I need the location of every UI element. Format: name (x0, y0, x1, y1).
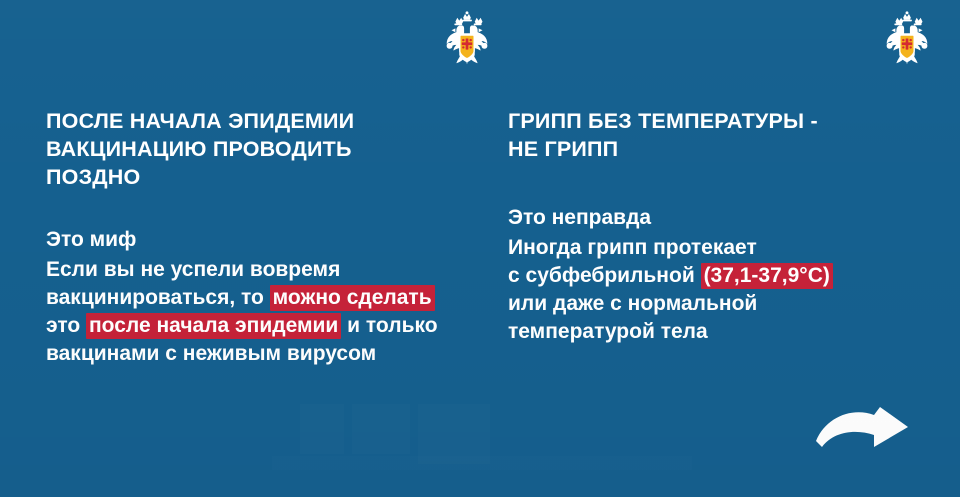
body-line: вакцинами с неживым вирусом (46, 340, 466, 368)
myth-column-left: ПОСЛЕ НАЧАЛА ЭПИДЕМИИ ВАКЦИНАЦИЮ ПРОВОДИ… (46, 108, 466, 368)
highlighted-phrase: можно сделать (270, 285, 435, 311)
column-body: Если вы не успели вовремя вакцинироватьс… (46, 256, 466, 369)
body-segment: это (46, 314, 86, 337)
highlighted-phrase: после начала эпидемии (86, 313, 341, 339)
body-segment: или даже с нормальной (508, 292, 757, 315)
body-segment: Иногда грипп протекает (508, 236, 757, 259)
body-line: температурой тела (508, 318, 928, 346)
column-heading: ПОСЛЕ НАЧАЛА ЭПИДЕМИИ ВАКЦИНАЦИЮ ПРОВОДИ… (46, 108, 466, 192)
body-line: вакцинироваться, то можно сделать (46, 284, 466, 312)
body-line: с субфебрильной (37,1-37,9°C) (508, 262, 928, 290)
column-verdict: Это миф (46, 226, 466, 254)
body-segment: Если вы не успели вовремя (46, 258, 340, 281)
column-heading: ГРИПП БЕЗ ТЕМПЕРАТУРЫ - НЕ ГРИПП (508, 108, 928, 164)
column-verdict: Это неправда (508, 204, 928, 232)
body-line: это после начала эпидемии и только (46, 312, 466, 340)
body-segment: и только (341, 314, 437, 337)
body-line: или даже с нормальной (508, 290, 928, 318)
column-body: Иногда грипп протекает с субфебрильной (… (508, 234, 928, 347)
body-line: Иногда грипп протекает (508, 234, 928, 262)
body-segment: вакцинами с неживым вирусом (46, 342, 376, 365)
body-line: Если вы не успели вовремя (46, 256, 466, 284)
myth-column-right: ГРИПП БЕЗ ТЕМПЕРАТУРЫ - НЕ ГРИПП Это неп… (508, 108, 928, 347)
curved-right-arrow-icon (812, 403, 916, 457)
body-segment: температурой тела (508, 320, 708, 343)
slide-root: ПОСЛЕ НАЧАЛА ЭПИДЕМИИ ВАКЦИНАЦИЮ ПРОВОДИ… (0, 0, 960, 497)
body-segment: с субфебрильной (508, 264, 701, 287)
body-segment: вакцинироваться, то (46, 286, 270, 309)
highlighted-phrase: (37,1-37,9°C) (701, 263, 833, 289)
